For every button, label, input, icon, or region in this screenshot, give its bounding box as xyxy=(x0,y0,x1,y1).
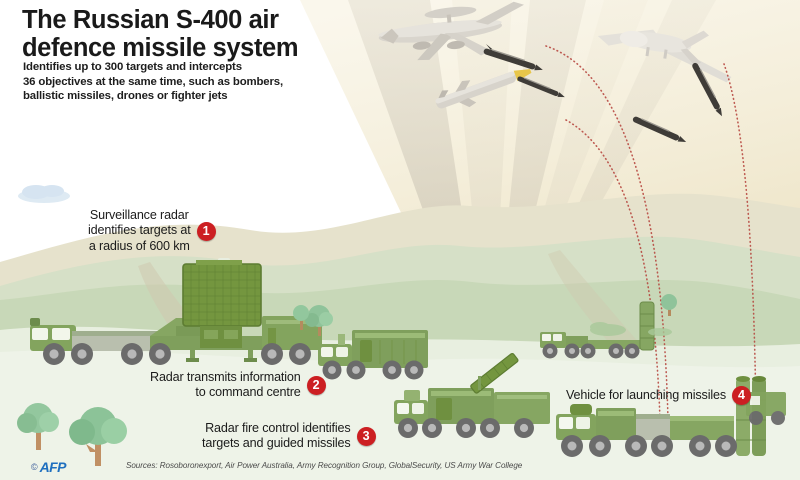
infographic-canvas: The Russian S-400 air defence missile sy… xyxy=(0,0,800,480)
callout-3-text: Radar fire control identifies targets an… xyxy=(202,421,351,452)
callout-1-text: Surveillance radar identifies targets at… xyxy=(88,208,191,254)
page-subtitle: Identifies up to 300 targets and interce… xyxy=(23,60,323,104)
afp-logo: © AFP xyxy=(31,459,66,475)
sources-line: Sources: Rosoboronexport, Air Power Aust… xyxy=(126,461,522,470)
callout-launcher-vehicle: Vehicle for launching missiles 4 xyxy=(566,386,751,405)
callout-fire-control: Radar fire control identifies targets an… xyxy=(202,421,376,452)
callout-4-text: Vehicle for launching missiles xyxy=(566,388,726,403)
callout-2-badge: 2 xyxy=(307,376,326,395)
page-title: The Russian S-400 air defence missile sy… xyxy=(22,6,352,62)
launch-tubes-rear xyxy=(640,302,654,350)
callout-1-badge: 1 xyxy=(197,222,216,241)
callout-2-text: Radar transmits information to command c… xyxy=(150,370,301,401)
copyright-icon: © xyxy=(31,462,38,472)
callout-command-centre: Radar transmits information to command c… xyxy=(150,370,326,401)
afp-wordmark: AFP xyxy=(40,459,66,475)
callout-3-badge: 3 xyxy=(357,427,376,446)
callout-4-badge: 4 xyxy=(732,386,751,405)
callout-surveillance-radar: Surveillance radar identifies targets at… xyxy=(88,208,216,254)
